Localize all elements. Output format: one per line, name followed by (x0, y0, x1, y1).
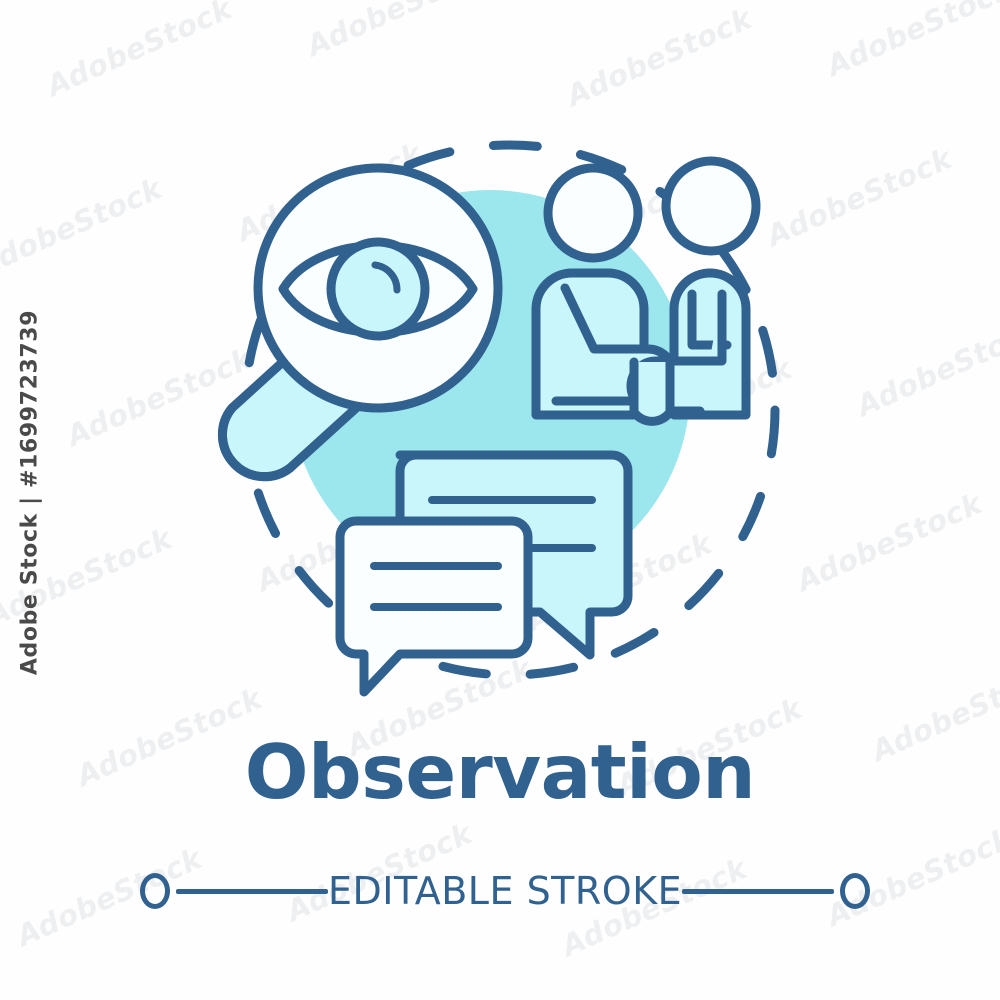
editable-stroke-caption: EDITABLE STROKE (140, 862, 860, 920)
left-rule-line (176, 889, 328, 894)
observation-illustration (0, 0, 1000, 1000)
person-left-head (548, 168, 638, 258)
concept-icon-canvas: AdobeStock AdobeStock AdobeStock AdobeSt… (0, 0, 1000, 1000)
eye-iris (331, 242, 425, 336)
person-hands-clasp (634, 362, 670, 421)
right-endpoint-circle-icon (840, 873, 870, 909)
page-title: Observation (0, 735, 1000, 810)
person-right-head (666, 161, 756, 251)
editable-stroke-label: EDITABLE STROKE (328, 869, 682, 913)
right-rule-line (682, 889, 834, 894)
left-endpoint-circle-icon (140, 873, 170, 909)
